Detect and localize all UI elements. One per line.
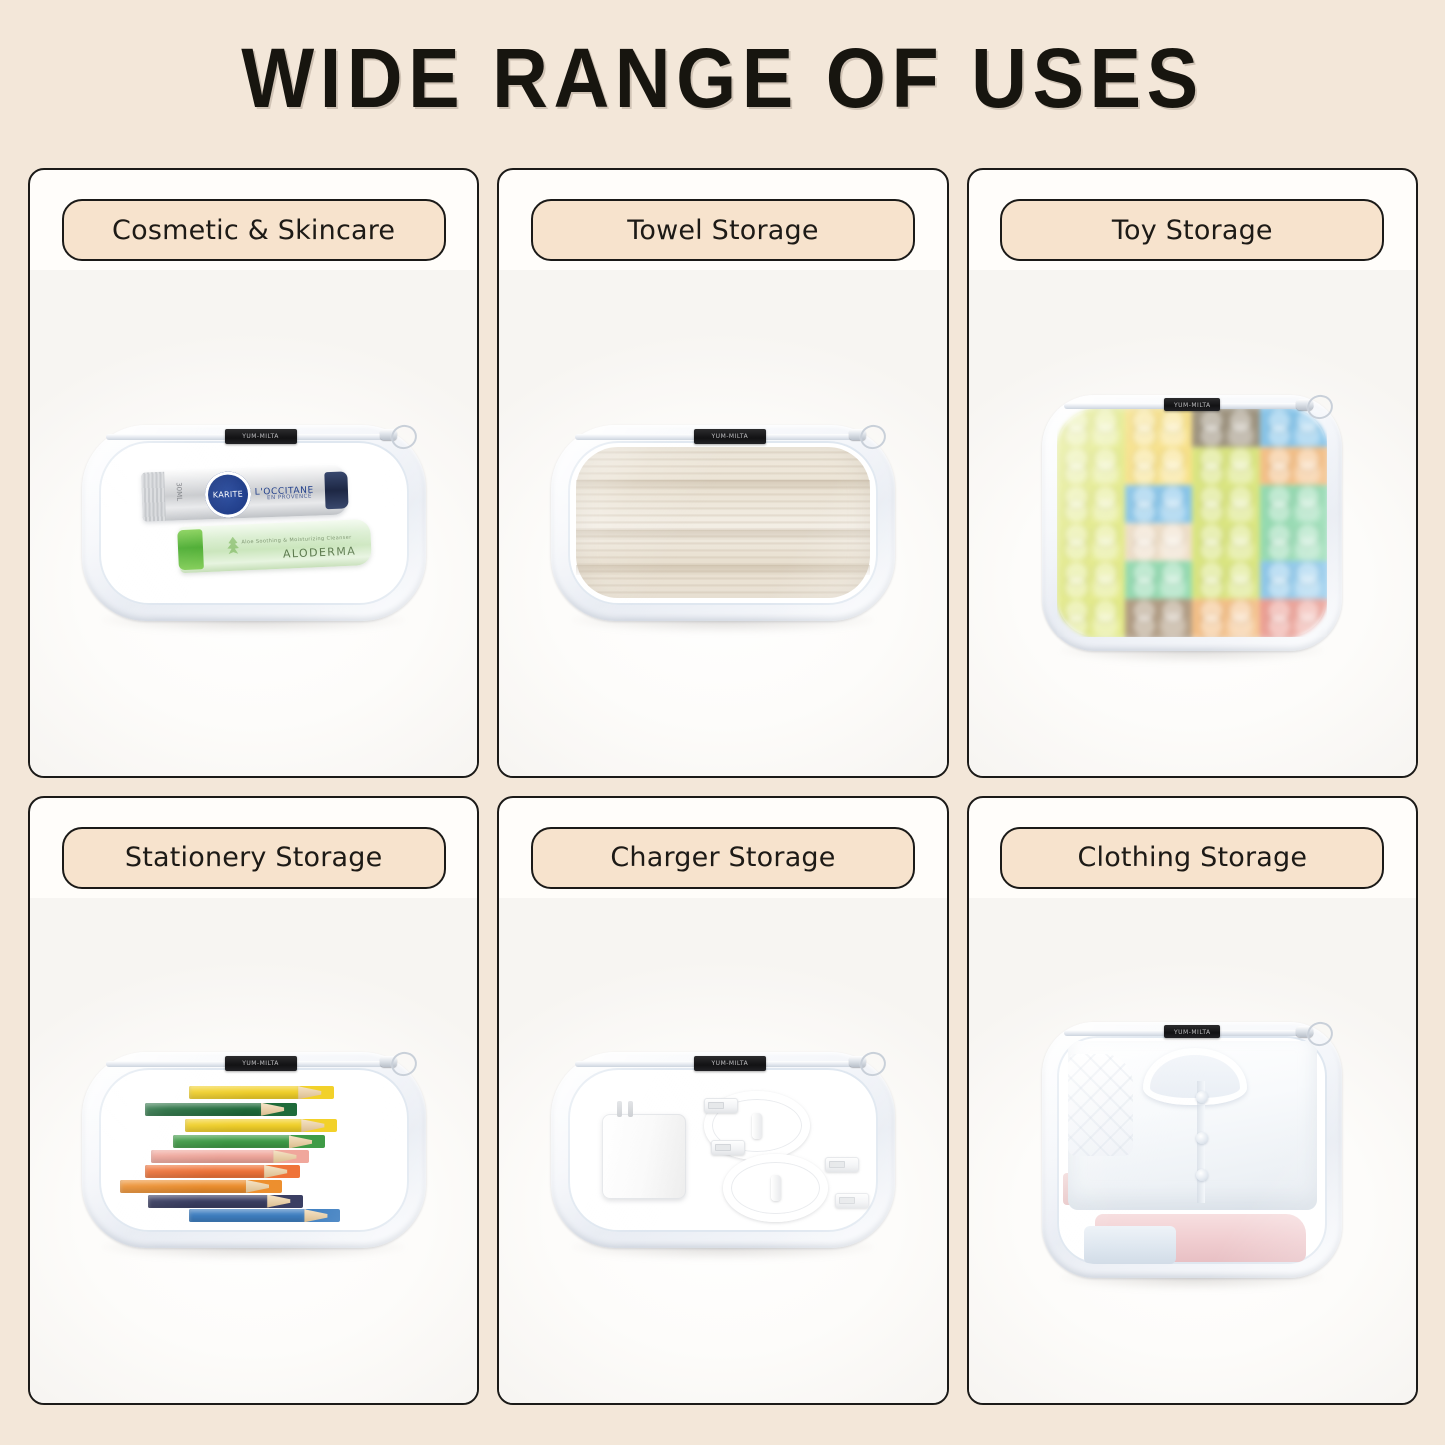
use-case-card-cosmetic[interactable]: Cosmetic & Skincare 30ML KARITE L'OCCITA… [28, 168, 479, 778]
usb-cable-bundle [723, 1154, 828, 1223]
card-label-text: Toy Storage [1112, 215, 1273, 246]
shirt-button [1196, 1132, 1208, 1144]
use-case-card-charger[interactable]: Charger Storage [497, 796, 948, 1406]
pencil-lead [269, 1180, 282, 1193]
pouch-window [1057, 1036, 1327, 1264]
card-label-text: Towel Storage [627, 215, 818, 246]
usb-connector [835, 1193, 869, 1208]
aloderma-wordmark: ALODERMA [283, 544, 357, 560]
pencil [145, 1103, 297, 1116]
towel-band [576, 565, 871, 575]
pencil-wood [264, 1165, 288, 1178]
pencil-body [148, 1195, 269, 1208]
loccitane-seal-icon: KARITE [204, 470, 252, 518]
card-label-pill-stationery: Stationery Storage [62, 827, 446, 889]
pencil [151, 1150, 309, 1163]
aloderma-subtext: Aloe Soothing & Moisturizing Cleanser [242, 535, 353, 546]
brand-tab-text: YUM-MILTA [694, 1056, 766, 1071]
aloe-leaf-icon [225, 536, 242, 559]
folded-shirt [1068, 1041, 1316, 1210]
pencil-body [185, 1119, 303, 1132]
pouch-window [568, 1068, 878, 1232]
shirt-button [1196, 1169, 1208, 1181]
pouch-towel: YUM-MILTA [551, 425, 895, 621]
shirt-collar [1143, 1048, 1247, 1106]
card-label-pill-clothing: Clothing Storage [1000, 827, 1384, 889]
pencil-lead [290, 1195, 303, 1208]
product-photo-stationery: YUM-MILTA [30, 898, 477, 1404]
pencil [148, 1195, 303, 1208]
brand-tab: YUM-MILTA [225, 1056, 297, 1071]
zipper-pull-icon [1296, 395, 1330, 417]
wall-charger [602, 1114, 686, 1199]
pencil-body [189, 1209, 307, 1222]
pencil-lead [324, 1119, 337, 1132]
aloderma-tube: Aloe Soothing & Moisturizing Cleanser AL… [178, 519, 372, 573]
pencil-body [189, 1086, 301, 1099]
brand-tab-text: YUM-MILTA [225, 429, 297, 444]
zipper-pull-icon [849, 425, 883, 447]
pencil [185, 1119, 337, 1132]
card-label-text: Charger Storage [610, 842, 835, 873]
frosted-panel [1057, 409, 1327, 637]
product-photo-charger: YUM-MILTA [499, 898, 946, 1404]
zipper-pull-icon [380, 425, 414, 447]
charger-prong [617, 1101, 622, 1117]
brand-tab: YUM-MILTA [225, 429, 297, 444]
pencil [189, 1086, 335, 1099]
pencil [173, 1135, 325, 1148]
pouch-window [99, 1068, 409, 1232]
pencil-lead [287, 1165, 300, 1178]
loccitane-tube: 30ML KARITE L'OCCITANE EN PROVENCE [141, 465, 347, 521]
pencil [145, 1165, 300, 1178]
usb-connector [704, 1098, 738, 1113]
tube-cap [324, 471, 348, 509]
brand-tab: YUM-MILTA [1164, 398, 1220, 411]
pencil-wood [304, 1209, 328, 1222]
card-label-pill-towel: Towel Storage [531, 199, 915, 261]
green-tube-cap [177, 529, 204, 570]
pouch-window: 30ML KARITE L'OCCITANE EN PROVENCE Aloe [99, 441, 409, 605]
pouch-window [568, 441, 878, 605]
pencil [189, 1209, 341, 1222]
use-case-card-stationery[interactable]: Stationery Storage [28, 796, 479, 1406]
brand-tab-text: YUM-MILTA [1164, 398, 1220, 413]
tube-volume: 30ML [175, 482, 184, 501]
loccitane-subtext: EN PROVENCE [267, 493, 312, 501]
use-case-card-toy[interactable]: Toy Storage [967, 168, 1418, 778]
shirt-sleeve [1068, 1054, 1133, 1155]
product-photo-cosmetic: 30ML KARITE L'OCCITANE EN PROVENCE Aloe [30, 270, 477, 776]
pencil-lead [312, 1135, 325, 1148]
blue-garment [1084, 1226, 1176, 1265]
use-case-card-clothing[interactable]: Clothing Storage [967, 796, 1418, 1406]
zipper-pull-icon [380, 1052, 414, 1074]
card-label-pill-charger: Charger Storage [531, 827, 915, 889]
infographic-page: WIDE RANGE OF USES Cosmetic & Skincare 3… [0, 0, 1445, 1445]
zipper-pull-icon [849, 1052, 883, 1074]
use-case-card-towel[interactable]: Towel Storage YUM [497, 168, 948, 778]
cable-tie [752, 1113, 762, 1139]
pencil-wood [289, 1135, 313, 1148]
cable-tie [771, 1175, 781, 1201]
pencil-body [120, 1180, 247, 1193]
pencil-wood [267, 1195, 291, 1208]
card-label-text: Clothing Storage [1077, 842, 1307, 873]
pouch-window [1057, 409, 1327, 637]
pouch-clothing: YUM-MILTA [1042, 1022, 1342, 1278]
pencil-wood [298, 1086, 322, 1099]
product-photo-towel: YUM-MILTA [499, 270, 946, 776]
tube-crimp [141, 471, 165, 521]
card-label-text: Cosmetic & Skincare [112, 215, 395, 246]
pouch-cosmetic: 30ML KARITE L'OCCITANE EN PROVENCE Aloe [82, 425, 426, 621]
towel-band [576, 480, 871, 490]
zipper-pull-icon [1296, 1022, 1330, 1044]
pencil-wood [273, 1150, 297, 1163]
brand-tab-text: YUM-MILTA [1164, 1025, 1220, 1040]
usb-connector [825, 1157, 859, 1172]
use-case-grid: Cosmetic & Skincare 30ML KARITE L'OCCITA… [28, 168, 1418, 1405]
charger-prong [628, 1101, 633, 1117]
pencil-body [173, 1135, 291, 1148]
usb-connector [711, 1140, 745, 1155]
folded-towel [576, 447, 871, 598]
page-title: WIDE RANGE OF USES [58, 30, 1387, 126]
brand-tab: YUM-MILTA [1164, 1025, 1220, 1038]
card-label-text: Stationery Storage [125, 842, 383, 873]
pencil-body [151, 1150, 275, 1163]
pencil-lead [296, 1150, 309, 1163]
brand-tab: YUM-MILTA [694, 1056, 766, 1071]
pencil-body [145, 1103, 263, 1116]
pencil-wood [261, 1103, 285, 1116]
pencil-wood [246, 1180, 270, 1193]
seal-text: KARITE [213, 489, 244, 499]
card-label-pill-cosmetic: Cosmetic & Skincare [62, 199, 446, 261]
brand-tab-text: YUM-MILTA [694, 429, 766, 444]
pencil-body [145, 1165, 266, 1178]
pencil-wood [301, 1119, 325, 1132]
pencil [120, 1180, 281, 1193]
product-photo-toy: YUM-MILTA [969, 270, 1416, 776]
brand-tab-text: YUM-MILTA [225, 1056, 297, 1071]
pencil-lead [284, 1103, 297, 1116]
pencil-lead [327, 1209, 340, 1222]
pencil-lead [321, 1086, 334, 1099]
pouch-charger: YUM-MILTA [551, 1052, 895, 1248]
card-label-pill-toy: Toy Storage [1000, 199, 1384, 261]
pouch-stationery: YUM-MILTA [82, 1052, 426, 1248]
towel-band [576, 530, 871, 540]
brand-tab: YUM-MILTA [694, 429, 766, 444]
product-photo-clothing: YUM-MILTA [969, 898, 1416, 1404]
pouch-toy: YUM-MILTA [1042, 395, 1342, 651]
